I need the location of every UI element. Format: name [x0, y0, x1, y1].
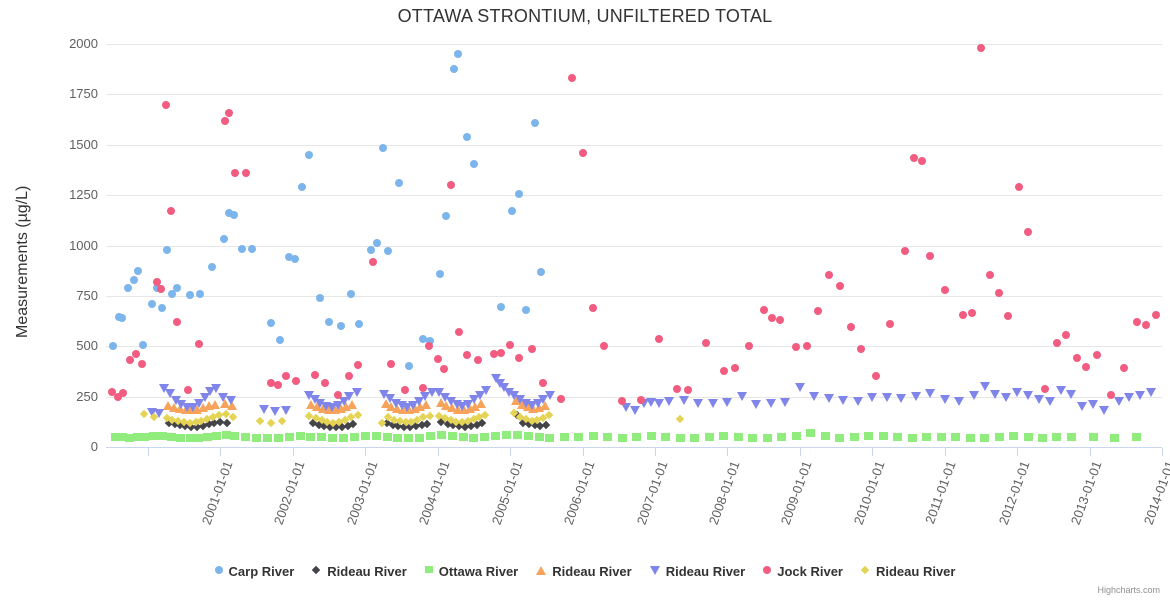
data-point [267, 418, 275, 426]
data-point [419, 413, 427, 421]
x-tick [293, 448, 294, 456]
data-point [304, 412, 312, 420]
diamond-icon [861, 566, 870, 575]
x-tick-label: 2007-01-01 [634, 459, 671, 527]
x-tick [872, 448, 873, 456]
x-tick [1162, 448, 1163, 456]
data-point [401, 418, 409, 426]
data-point [475, 412, 483, 420]
x-tick-label: 2005-01-01 [489, 459, 526, 527]
data-point [426, 411, 434, 419]
data-point [516, 412, 524, 420]
legend-label: Rideau River [552, 564, 631, 579]
data-point [197, 417, 205, 425]
x-tick [800, 448, 801, 456]
data-point [149, 412, 157, 420]
y-tick-label: 0 [42, 440, 98, 453]
x-tick [727, 448, 728, 456]
legend-label: Rideau River [876, 564, 955, 579]
data-point [174, 417, 182, 425]
data-point [209, 413, 217, 421]
legend-item-5[interactable]: Jock River [763, 563, 843, 579]
square-icon [425, 566, 433, 574]
x-tick-label: 2004-01-01 [416, 459, 453, 527]
x-tick [438, 448, 439, 456]
data-point [458, 418, 466, 426]
data-point [527, 417, 535, 425]
y-axis-title: Measurements (µg/L) [14, 185, 32, 337]
data-point [203, 415, 211, 423]
data-point [346, 413, 354, 421]
data-point [341, 415, 349, 423]
x-tick-label: 2009-01-01 [778, 459, 815, 527]
y-tick-label: 1000 [42, 239, 98, 252]
data-point [162, 414, 170, 422]
x-tick-label: 2011-01-01 [922, 459, 959, 526]
legend-label: Ottawa River [439, 564, 518, 579]
series-6 [106, 44, 1162, 448]
y-tick-label: 1750 [42, 87, 98, 100]
data-point [214, 411, 222, 419]
data-point [191, 418, 199, 426]
x-tick-label: 2013-01-01 [1068, 459, 1105, 527]
y-tick-label: 1500 [42, 138, 98, 151]
data-point [452, 417, 460, 425]
highcharts-credit[interactable]: Highcharts.com [1097, 585, 1160, 595]
triangle-down-icon [650, 566, 660, 575]
data-point [440, 414, 448, 422]
data-point [335, 417, 343, 425]
data-point [329, 418, 337, 426]
diamond-icon [312, 566, 321, 575]
data-point [378, 419, 386, 427]
data-point [140, 409, 148, 417]
data-point [435, 411, 443, 419]
legend-item-4[interactable]: Rideau River [650, 563, 745, 579]
legend-item-1[interactable]: Rideau River [312, 563, 406, 579]
data-point [522, 415, 530, 423]
data-point [407, 417, 415, 425]
chart-legend[interactable]: Carp RiverRideau RiverOttawa RiverRideau… [0, 562, 1170, 579]
data-point [469, 415, 477, 423]
x-tick-label: 2002-01-01 [271, 459, 308, 527]
data-point [186, 418, 194, 426]
x-tick-label: 2006-01-01 [561, 459, 598, 527]
plot-area [106, 44, 1162, 448]
legend-label: Rideau River [666, 564, 745, 579]
y-tick-label: 2000 [42, 37, 98, 50]
x-tick [510, 448, 511, 456]
legend-label: Rideau River [327, 564, 406, 579]
x-tick-label: 2012-01-01 [996, 459, 1033, 527]
data-point [413, 415, 421, 423]
data-point [323, 417, 331, 425]
chart-title: OTTAWA STRONTIUM, UNFILTERED TOTAL [0, 6, 1170, 27]
x-tick [220, 448, 221, 456]
x-tick-label: 2001-01-01 [199, 459, 236, 527]
data-point [168, 415, 176, 423]
x-tick [583, 448, 584, 456]
y-tick-label: 500 [42, 339, 98, 352]
data-point [539, 413, 547, 421]
legend-label: Carp River [229, 564, 295, 579]
data-point [256, 417, 264, 425]
data-point [354, 411, 362, 419]
x-tick-label: 2008-01-01 [706, 459, 743, 527]
data-point [545, 411, 553, 419]
data-point [384, 413, 392, 421]
y-tick-label: 750 [42, 289, 98, 302]
y-tick-label: 1250 [42, 188, 98, 201]
data-point [180, 418, 188, 426]
data-point [278, 416, 286, 424]
x-tick-label: 2010-01-01 [851, 459, 888, 527]
data-point [446, 416, 454, 424]
x-tick-label: 2014-01-01 [1141, 459, 1170, 527]
x-tick [945, 448, 946, 456]
legend-item-0[interactable]: Carp River [215, 563, 295, 579]
data-point [312, 414, 320, 422]
triangle-up-icon [536, 566, 546, 575]
data-point [390, 415, 398, 423]
data-point [317, 416, 325, 424]
circle-icon [763, 566, 771, 574]
x-tick-label: 2003-01-01 [344, 459, 381, 527]
data-point [510, 409, 518, 417]
legend-item-6[interactable]: Rideau River [861, 563, 955, 579]
legend-item-2[interactable]: Ottawa River [425, 563, 518, 579]
data-point [222, 410, 230, 418]
legend-item-3[interactable]: Rideau River [536, 563, 631, 579]
data-point [464, 417, 472, 425]
legend-label: Jock River [777, 564, 843, 579]
chart-container: OTTAWA STRONTIUM, UNFILTERED TOTAL Measu… [0, 0, 1170, 600]
x-tick [655, 448, 656, 456]
data-point [229, 413, 237, 421]
x-tick [148, 448, 149, 456]
data-point [396, 417, 404, 425]
x-tick [1090, 448, 1091, 456]
x-tick [1017, 448, 1018, 456]
data-point [676, 414, 684, 422]
circle-icon [215, 566, 223, 574]
y-tick-label: 250 [42, 390, 98, 403]
data-point [481, 410, 489, 418]
data-point [533, 416, 541, 424]
x-tick [365, 448, 366, 456]
